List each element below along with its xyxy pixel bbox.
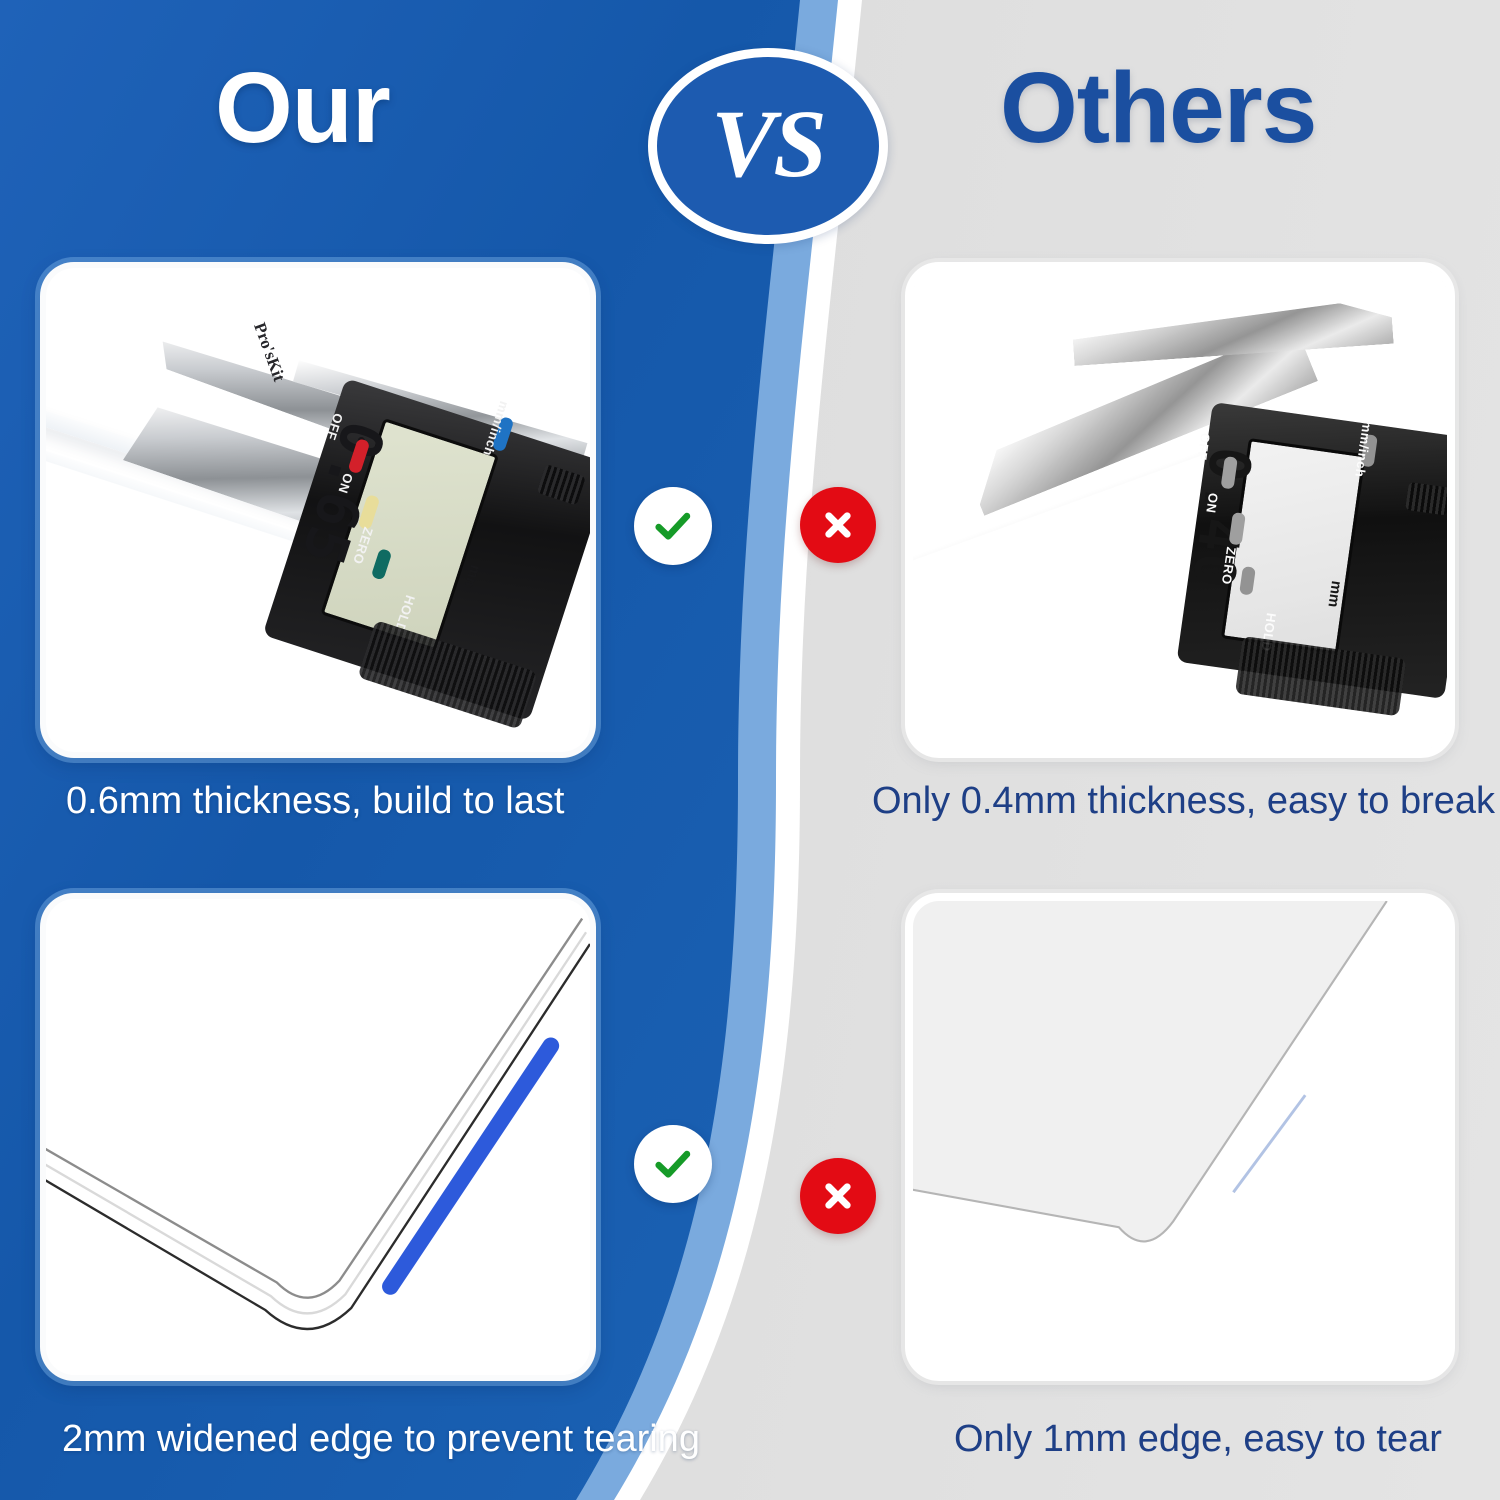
photo-frame-others-thickness: 0.40 mm OFF ON ZERO HOLD mm/inch [905,262,1455,758]
photo-frame-our-thickness: 0.65 mm OFF ON ZERO HOLD mm/inch Pro'sKi… [40,262,596,758]
photo-caliper-our: 0.65 mm OFF ON ZERO HOLD mm/inch Pro'sKi… [46,268,590,752]
verdict-cross-edge [800,1158,876,1234]
page-title-our: Our [215,58,390,158]
caption-others-edge: Only 1mm edge, easy to tear [954,1419,1442,1461]
versus-label: VS [711,96,824,192]
caption-our-thickness: 0.6mm thickness, build to last [66,781,564,823]
caption-others-thickness: Only 0.4mm thickness, easy to break [872,781,1495,823]
caption-our-edge: 2mm widened edge to prevent tearing [62,1419,700,1461]
cross-icon [818,505,858,545]
photo-frame-our-edge [40,893,596,1381]
cross-icon [818,1176,858,1216]
verdict-cross-thickness [800,487,876,563]
photo-caliper-others: 0.40 mm OFF ON ZERO HOLD mm/inch [913,270,1447,750]
page-title-others: Others [1000,58,1316,158]
check-icon [651,504,695,548]
check-icon [651,1142,695,1186]
versus-badge: VS [648,48,888,244]
photo-frame-others-edge [905,893,1455,1381]
photo-protector-corner-our [46,899,590,1375]
comparison-infographic: Our Others VS 0.65 mm [0,0,1500,1500]
photo-protector-corner-others [913,901,1447,1373]
verdict-check-edge [634,1125,712,1203]
verdict-check-thickness [634,487,712,565]
